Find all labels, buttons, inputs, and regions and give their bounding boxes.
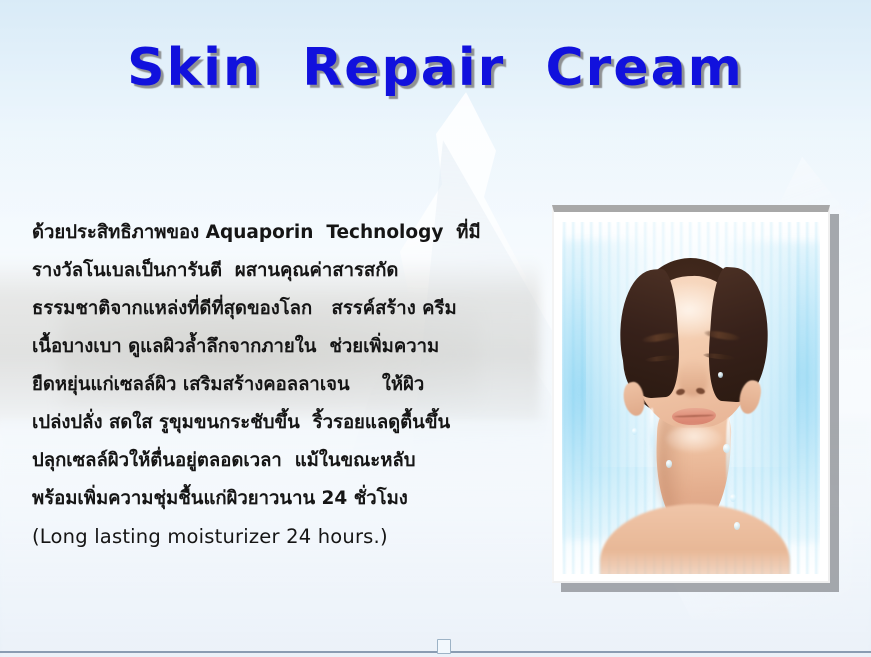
water-droplet-2 — [730, 494, 736, 502]
copy-line-6: เปล่งปลั่ง สดใส รูขุมขนกระชับขึ้น ริ้วรอ… — [32, 404, 542, 442]
copy-line-4: เนื้อบางเบา ดูแลผิวล้ำลึกจากภายใน ช่วยเพ… — [32, 328, 542, 366]
copy-line-1: ด้วยประสิทธิภาพของ Aquaporin Technology … — [32, 214, 542, 252]
water-droplet-1 — [723, 444, 730, 453]
water-droplet-5 — [718, 372, 723, 378]
water-droplet-6 — [632, 428, 637, 435]
copy-line-8: พร้อมเพิ่มความชุ่มชื้นแก่ผิวยาวนาน 24 ชั… — [32, 480, 542, 518]
model-chin-highlight — [666, 426, 722, 452]
slide-canvas: Skin Repair Cream ด้วยประสิทธิภาพของ Aqu… — [0, 0, 871, 657]
product-photo-frame — [552, 205, 830, 583]
copy-line-3: ธรรมชาติจากแหล่งที่ดีที่สุดของโลก สรรค์ส… — [32, 290, 542, 328]
copy-line-5: ยืดหยุ่นแก่เซลล์ผิว เสริมสร้างคอลลาเจน ใ… — [32, 366, 542, 404]
body-copy-block: ด้วยประสิทธิภาพของ Aquaporin Technology … — [32, 214, 542, 556]
copy-line-7: ปลุกเซลล์ผิวให้ตื่นอยู่ตลอดเวลา แม้ในขณะ… — [32, 442, 542, 480]
model-water-trail-right — [726, 418, 731, 496]
copy-line-2: รางวัลโนเบลเป็นการันตี ผสานคุณค่าสารสกัด — [32, 252, 542, 290]
model-water-trail-left — [650, 408, 654, 460]
product-photo — [562, 222, 820, 574]
slide-title: Skin Repair Cream — [0, 38, 871, 98]
photo-model-figure — [562, 222, 820, 574]
water-droplet-3 — [666, 460, 672, 468]
copy-line-english: (Long lasting moisturizer 24 hours.) — [32, 518, 542, 556]
bottom-page-marker[interactable] — [437, 639, 451, 654]
model-shoulders — [600, 504, 790, 574]
water-droplet-4 — [734, 522, 740, 530]
bottom-divider — [0, 651, 871, 653]
